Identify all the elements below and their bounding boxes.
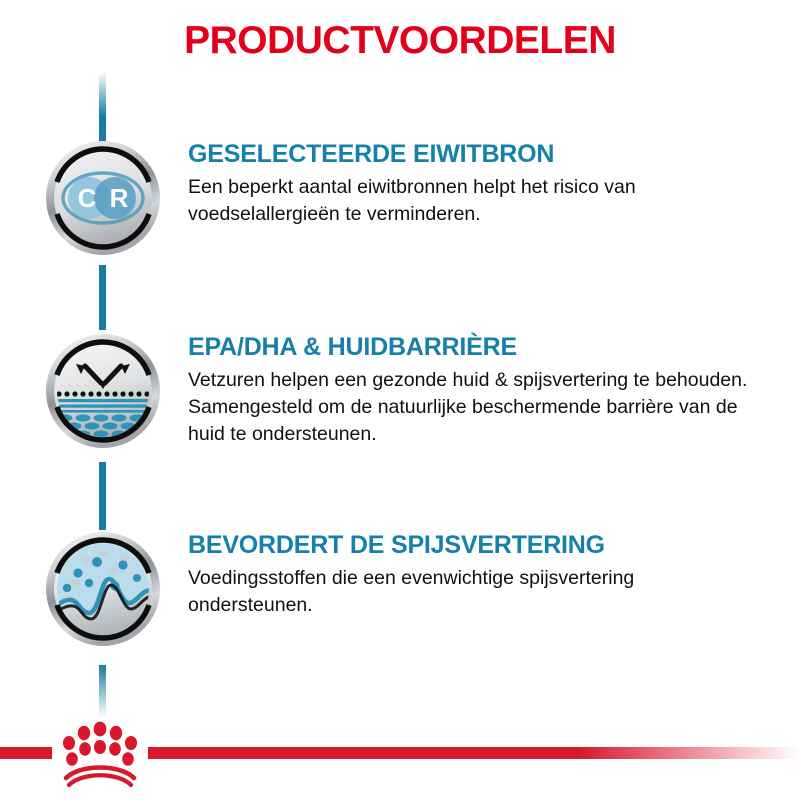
- icon-letter-c: C: [78, 183, 97, 213]
- royal-canin-crown-logo: [52, 718, 148, 790]
- page-title: PRODUCTVOORDELEN: [0, 18, 800, 64]
- benefit-text-3: BEVORDERT DE SPIJSVERTERING Voedingsstof…: [188, 531, 760, 619]
- footer-bar-left: [0, 747, 52, 759]
- timeline-rail-segment-2: [99, 462, 106, 530]
- benefit-body-3: Voedingsstoffen die een evenwichtige spi…: [188, 565, 760, 619]
- benefit-heading-3: BEVORDERT DE SPIJSVERTERING: [188, 531, 760, 560]
- timeline-rail-segment-1: [99, 265, 106, 330]
- footer-bar-right: [148, 747, 800, 759]
- benefit-heading-1: GESELECTEERDE EIWITBRON: [188, 140, 760, 169]
- icon-letter-r: R: [110, 183, 129, 213]
- benefit-body-2: Vetzuren helpen een gezonde huid & spijs…: [188, 367, 760, 448]
- protein-source-cr-icon: C R: [45, 140, 161, 256]
- benefit-heading-2: EPA/DHA & HUIDBARRIÈRE: [188, 333, 760, 362]
- digestive-wave-icon: [45, 531, 161, 647]
- benefit-text-1: GESELECTEERDE EIWITBRON Een beperkt aant…: [188, 140, 760, 228]
- skin-barrier-icon: [45, 333, 161, 449]
- footer: [0, 710, 800, 800]
- benefit-text-2: EPA/DHA & HUIDBARRIÈRE Vetzuren helpen e…: [188, 333, 760, 448]
- benefit-body-1: Een beperkt aantal eiwitbronnen helpt he…: [188, 174, 760, 228]
- timeline-rail-top: [99, 72, 106, 144]
